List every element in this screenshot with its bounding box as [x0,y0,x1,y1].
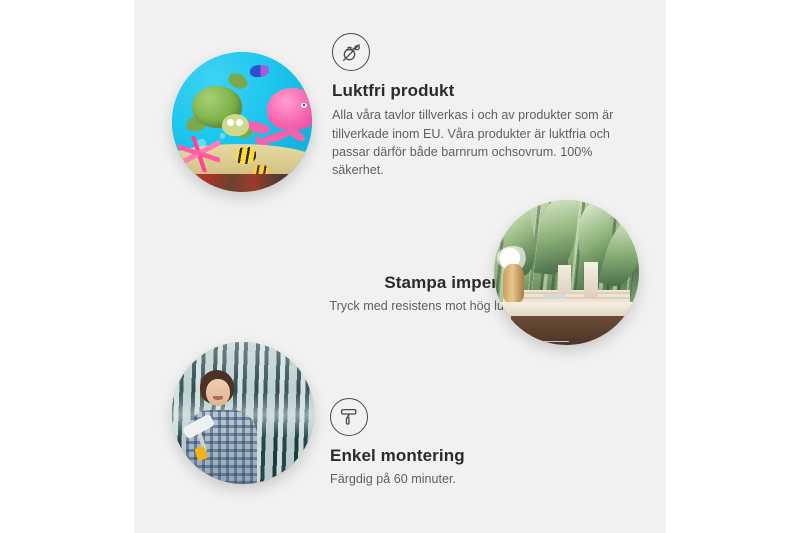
coral-icon [178,136,220,172]
feature-description: Färgdig på 60 minuter. [330,470,600,488]
feature-block-easy-mounting: Enkel montering Färgdig på 60 minuter. [330,398,600,489]
bathroom-bottle [558,265,571,294]
screenshot-canvas: Luktfri produkt Alla våra tavlor tillver… [0,0,800,533]
image-underwater-kids-mural[interactable] [172,52,312,192]
feature-panel: Luktfri produkt Alla våra tavlor tillver… [134,0,666,533]
yellow-fish-icon [235,147,256,164]
image-bathroom-tropical-wallpaper[interactable] [494,200,639,345]
octopus-eye-icon [301,103,307,108]
faucet-icon [543,294,566,298]
turtle-head-icon [222,114,249,136]
feature-description: Alla våra tavlor tillverkas i och av pro… [332,106,622,179]
feature-title: Enkel montering [330,445,600,466]
drawer-handle [536,341,568,342]
image-painter-forest-mural[interactable] [172,342,314,484]
scene-foreground-strip [172,174,312,192]
door-handle [594,340,598,344]
wood-vanity-cabinet [511,316,636,345]
bathroom-scene-art [494,200,639,345]
paint-roller-icon [330,398,368,436]
woman-face [206,379,230,406]
blue-fish-icon [250,65,268,78]
octopus-icon [267,88,312,130]
feature-block-odour-free: Luktfri produkt Alla våra tavlor tillver… [332,33,632,179]
bubble-icon [220,133,226,139]
bathroom-bottle [584,262,599,297]
painter-scene-art [172,342,314,484]
gold-vase [503,264,525,302]
feature-title: Luktfri produkt [332,80,632,101]
no-fragrance-icon [332,33,370,71]
underwater-scene-art [172,52,312,192]
